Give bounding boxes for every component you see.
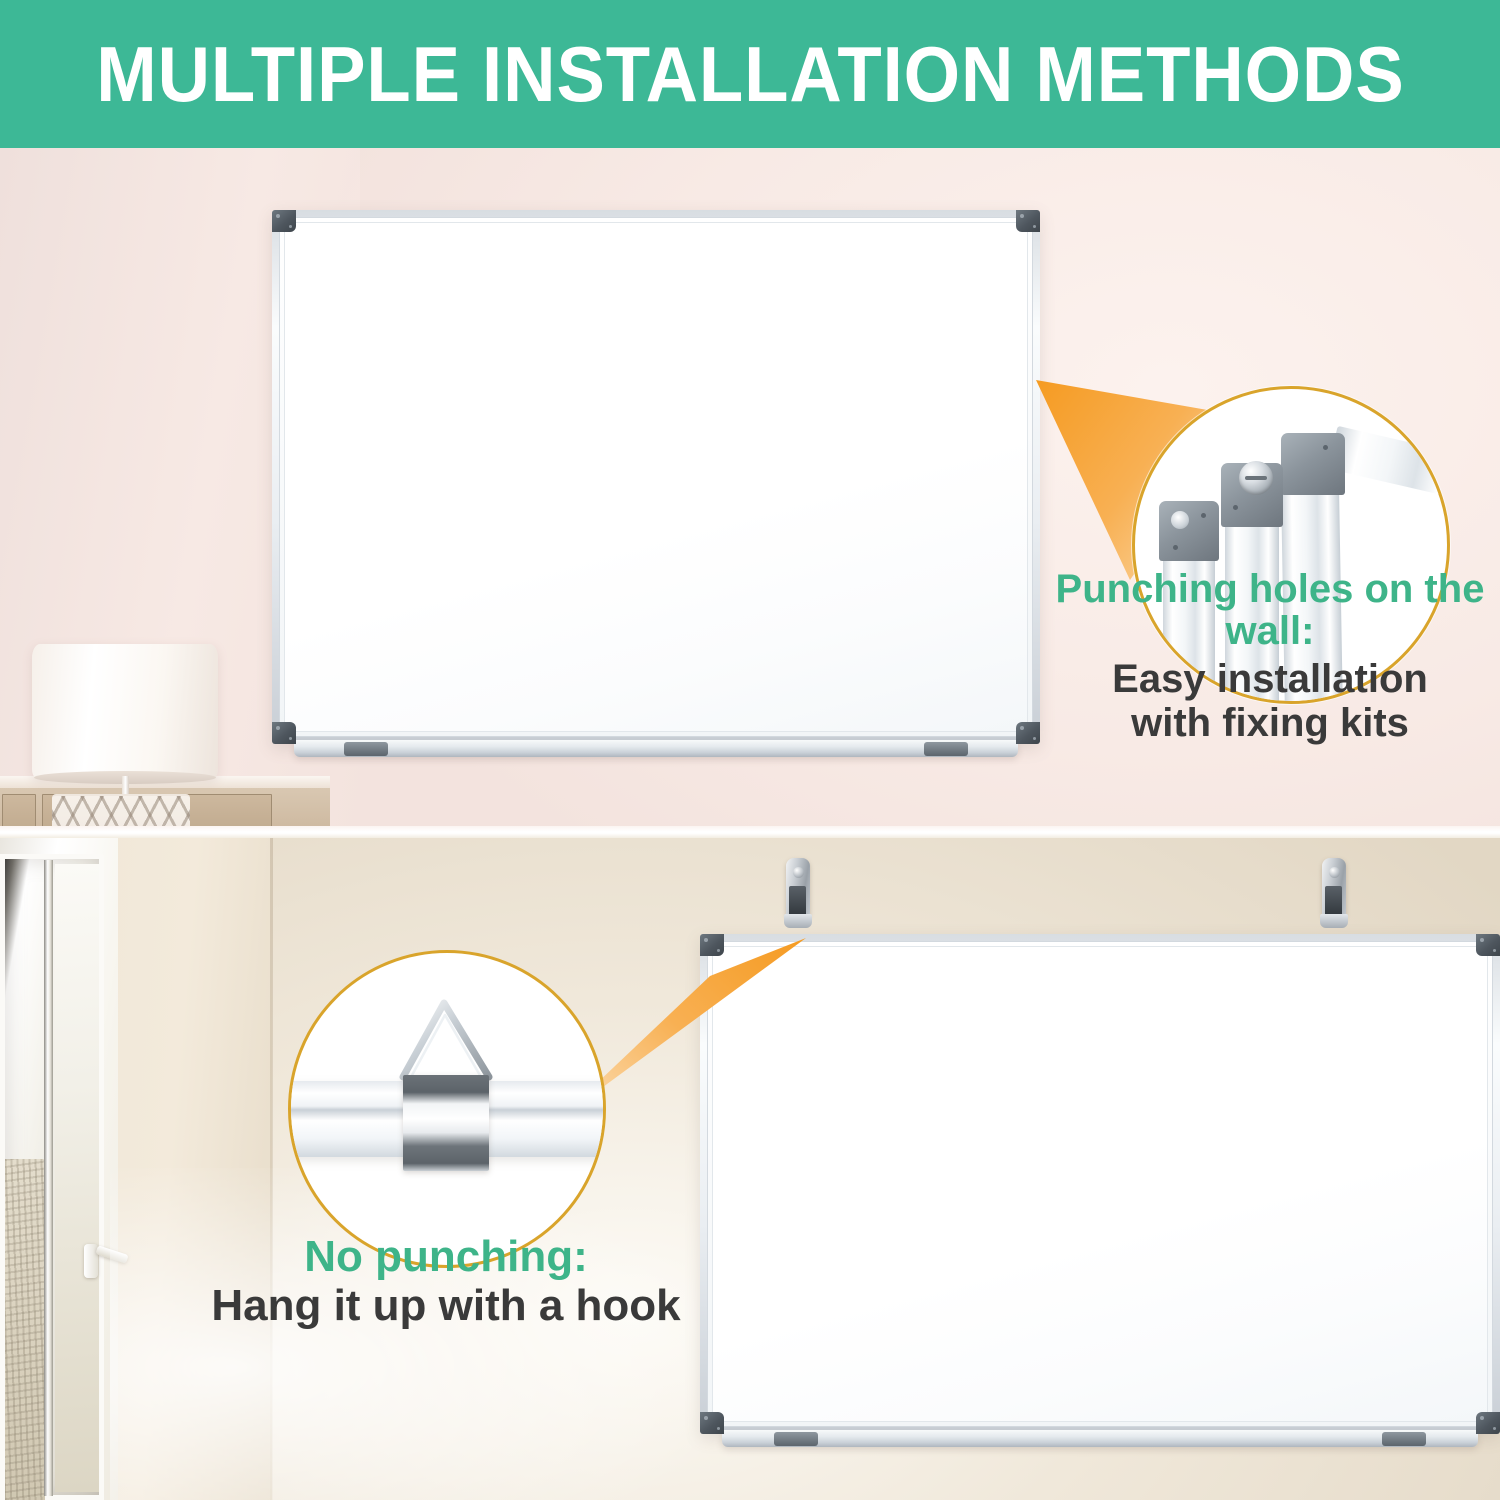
scene-punching-holes: Punching holes on the wall: Easy install… [0, 148, 1500, 832]
scene-no-punching: No punching: Hang it up with a hook [0, 838, 1500, 1500]
whiteboard-writing-surface [284, 222, 1028, 732]
caption-sub-line-1: Easy installation [1052, 657, 1488, 701]
corner-cap-top-left [272, 210, 296, 232]
wall-hook-right [1320, 858, 1348, 944]
caption-punching-holes: Punching holes on the wall: Easy install… [1052, 568, 1488, 745]
pen-tray-end-cap [1382, 1432, 1426, 1446]
corner-cap-front [1159, 501, 1219, 561]
pen-tray-end-cap [774, 1432, 818, 1446]
caption-sub-line-2: with fixing kits [1052, 701, 1488, 745]
header-banner: MULTIPLE INSTALLATION METHODS [0, 0, 1500, 148]
caption-sub: Hang it up with a hook [176, 1282, 716, 1330]
hanger-clamp-body [403, 1075, 489, 1171]
glass-door [0, 838, 118, 1500]
caption-heading: Punching holes on the wall: [1052, 568, 1488, 653]
caption-heading: No punching: [176, 1234, 716, 1280]
hook-tongue [789, 886, 806, 916]
triangular-hanger-icon [391, 997, 501, 1081]
cap-screw-dot [1173, 545, 1178, 550]
hanging-bracket-detail-circle [288, 950, 606, 1268]
cap-screw-dot [1233, 505, 1238, 510]
whiteboard-writing-surface [712, 946, 1488, 1422]
pen-tray [294, 740, 1018, 757]
whiteboard-upper [272, 210, 1040, 744]
corner-cap-bottom-right [1016, 722, 1040, 744]
hook-screw-icon [793, 867, 804, 878]
pen-tray-end-cap [344, 742, 388, 756]
cap-screw-dot [1323, 445, 1328, 450]
pen-tray [722, 1430, 1478, 1447]
corner-cap-bottom-right [1476, 1412, 1500, 1434]
glass-door-mullion [44, 860, 53, 1496]
corner-cap-top-right [1476, 934, 1500, 956]
hook-tongue [1325, 886, 1342, 916]
hook-lip [1320, 914, 1348, 928]
glass-door-texture [5, 1159, 45, 1500]
caption-no-punching: No punching: Hang it up with a hook [176, 1234, 716, 1330]
hook-screw-icon [1329, 867, 1340, 878]
corner-cap-bottom-left [700, 1412, 724, 1434]
aluminium-profile-horizontal [1328, 426, 1450, 500]
pen-tray-end-cap [924, 742, 968, 756]
glass-door-pane [55, 864, 99, 1492]
whiteboard-lower [700, 934, 1500, 1434]
wall-hook-left [784, 858, 812, 944]
wall-mount-hole-icon [1171, 511, 1189, 529]
corner-cap-top-right [1016, 210, 1040, 232]
banner-title: MULTIPLE INSTALLATION METHODS [96, 29, 1404, 120]
scene-divider [0, 826, 1500, 838]
hook-lip [784, 914, 812, 928]
mounting-screw-icon [1239, 461, 1273, 495]
corner-cap-bottom-left [272, 722, 296, 744]
corner-cap-back [1281, 433, 1345, 495]
cap-screw-dot [1201, 513, 1206, 518]
lamp-shade [32, 644, 218, 779]
